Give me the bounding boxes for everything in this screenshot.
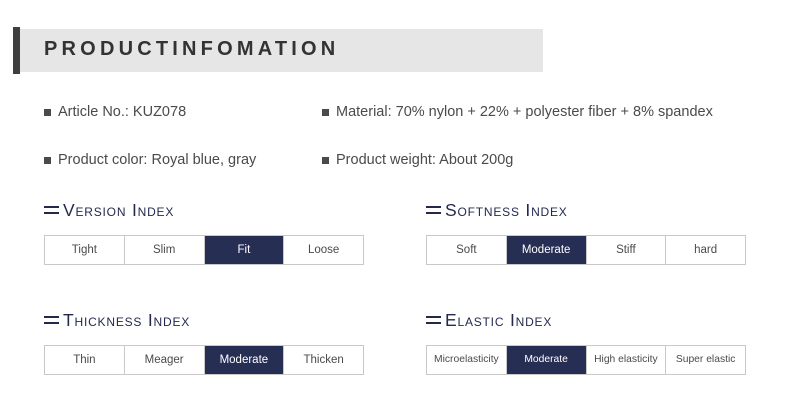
equals-icon <box>426 315 441 326</box>
scale-cell[interactable]: Meager <box>125 346 205 374</box>
square-bullet-icon <box>322 109 329 116</box>
index-heading: Elastic Index <box>426 309 746 331</box>
spec-text: Article No.: KUZ078 <box>58 104 186 120</box>
scale-cell[interactable]: Soft <box>427 236 507 264</box>
square-bullet-icon <box>322 157 329 164</box>
scale-table-thickness: Thin Meager Moderate Thicken <box>44 345 364 375</box>
header-accent-bar <box>13 27 20 74</box>
scale-cell[interactable]: Slim <box>125 236 205 264</box>
index-heading: Version Index <box>44 199 364 221</box>
index-section-elastic: Elastic Index Microelasticity Moderate H… <box>426 309 746 375</box>
equals-icon <box>44 205 59 216</box>
scale-cell-selected[interactable]: Moderate <box>205 346 285 374</box>
spec-text: Material: 70% nylon + 22% + polyester fi… <box>336 104 713 120</box>
scale-cell[interactable]: Thicken <box>284 346 363 374</box>
index-section-softness: Softness Index Soft Moderate Stiff hard <box>426 199 746 265</box>
scale-cell[interactable]: hard <box>666 236 745 264</box>
spec-text: Product color: Royal blue, gray <box>58 152 256 168</box>
scale-cell[interactable]: Stiff <box>587 236 667 264</box>
scale-cell-selected[interactable]: Moderate <box>507 346 587 374</box>
index-section-version: Version Index Tight Slim Fit Loose <box>44 199 364 265</box>
index-label: Softness Index <box>445 200 568 221</box>
spec-item-product-weight: Product weight: About 200g <box>322 152 513 168</box>
scale-cell-selected[interactable]: Moderate <box>507 236 587 264</box>
scale-cell[interactable]: Thin <box>45 346 125 374</box>
index-heading: Thickness Index <box>44 309 364 331</box>
spec-item-product-color: Product color: Royal blue, gray <box>44 152 256 168</box>
page-title: PRODUCTINFOMATION <box>44 38 339 61</box>
index-label: Version Index <box>63 200 174 221</box>
index-section-thickness: Thickness Index Thin Meager Moderate Thi… <box>44 309 364 375</box>
scale-table-softness: Soft Moderate Stiff hard <box>426 235 746 265</box>
spec-item-article-no: Article No.: KUZ078 <box>44 104 186 120</box>
scale-table-version: Tight Slim Fit Loose <box>44 235 364 265</box>
scale-cell[interactable]: Super elastic <box>666 346 745 374</box>
square-bullet-icon <box>44 157 51 164</box>
index-heading: Softness Index <box>426 199 746 221</box>
scale-cell-selected[interactable]: Fit <box>205 236 285 264</box>
spec-row: Article No.: KUZ078 Material: 70% nylon … <box>0 104 790 152</box>
spec-text: Product weight: About 200g <box>336 152 513 168</box>
square-bullet-icon <box>44 109 51 116</box>
product-spec-list: Article No.: KUZ078 Material: 70% nylon … <box>0 104 790 200</box>
scale-cell[interactable]: Tight <box>45 236 125 264</box>
scale-cell[interactable]: High elasticity <box>587 346 667 374</box>
scale-cell[interactable]: Loose <box>284 236 363 264</box>
scale-cell[interactable]: Microelasticity <box>427 346 507 374</box>
equals-icon <box>426 205 441 216</box>
scale-table-elastic: Microelasticity Moderate High elasticity… <box>426 345 746 375</box>
index-label: Thickness Index <box>63 310 190 331</box>
index-label: Elastic Index <box>445 310 552 331</box>
spec-row: Product color: Royal blue, gray Product … <box>0 152 790 200</box>
spec-item-material: Material: 70% nylon + 22% + polyester fi… <box>322 104 713 120</box>
equals-icon <box>44 315 59 326</box>
